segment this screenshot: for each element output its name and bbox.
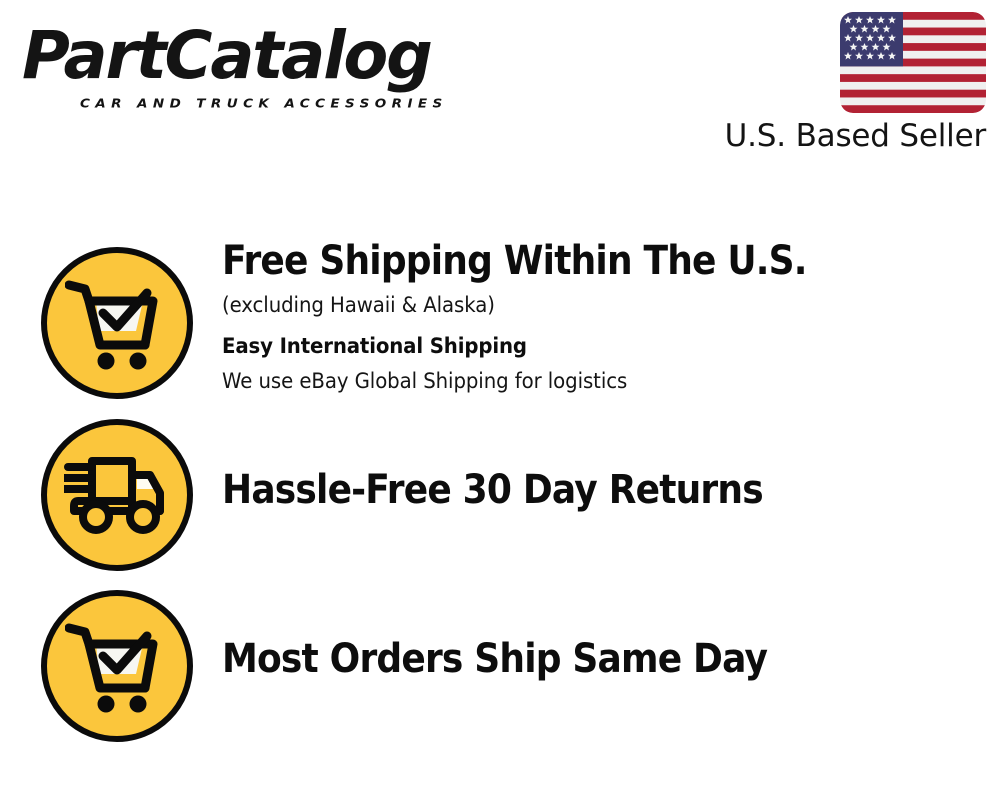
brand-wordmark: PartCatalog [22,18,431,94]
benefit-title: Free Shipping Within The U.S. [222,234,904,288]
shopping-cart-check-icon [41,247,193,399]
shopping-cart-check-icon [41,590,193,742]
benefit-row: Free Shipping Within The U.S. (excluding… [0,247,1000,407]
page-header: PartCatalog CAR AND TRUCK ACCESSORIES [0,0,1000,175]
benefit-title: Most Orders Ship Same Day [222,632,904,686]
benefit-text-block: Hassle-Free 30 Day Returns [222,463,980,517]
benefit-row: Most Orders Ship Same Day [0,590,1000,742]
us-based-seller-label: U.S. Based Seller [725,118,986,154]
brand-logo: PartCatalog CAR AND TRUCK ACCESSORIES [22,22,492,114]
benefit-subtitle: (excluding Hawaii & Alaska) [222,288,935,322]
brand-tagline: CAR AND TRUCK ACCESSORIES [80,97,448,112]
us-flag-icon [840,12,986,113]
benefit-text-block: Free Shipping Within The U.S. (excluding… [222,234,980,398]
benefit-subtitle-detail: We use eBay Global Shipping for logistic… [222,364,935,398]
benefit-subtitle-strong: Easy International Shipping [222,328,935,364]
benefit-title: Hassle-Free 30 Day Returns [222,463,904,517]
benefit-text-block: Most Orders Ship Same Day [222,632,980,686]
delivery-truck-icon [41,419,193,571]
benefit-row: Hassle-Free 30 Day Returns [0,419,1000,571]
